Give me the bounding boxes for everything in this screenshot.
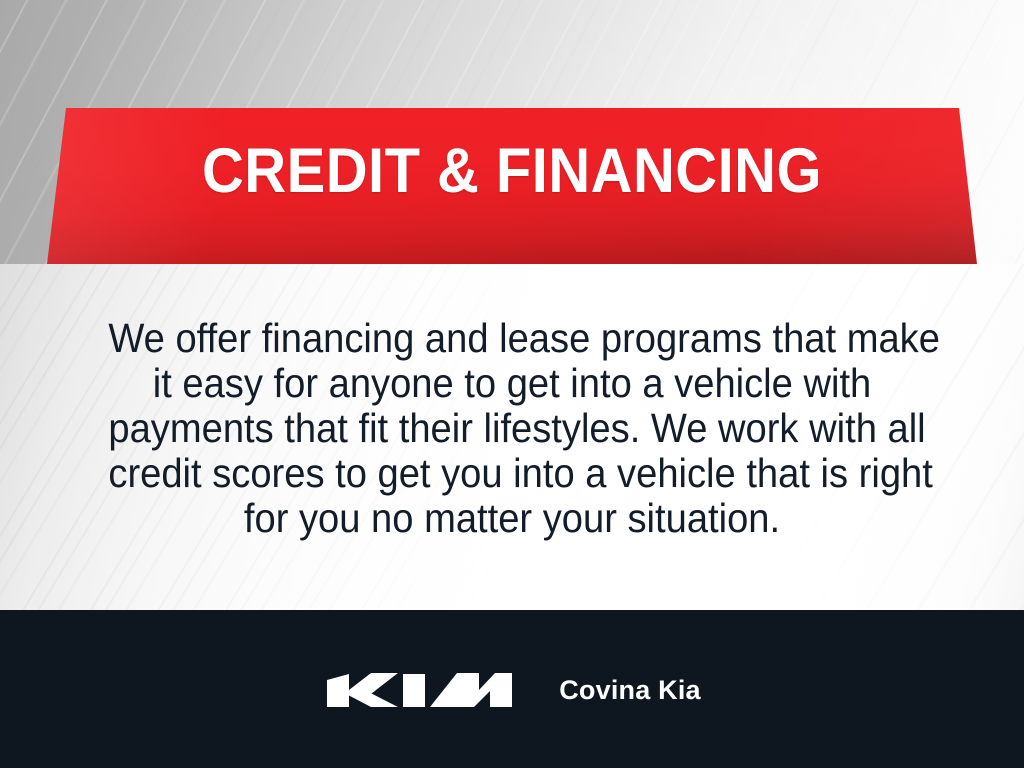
slide-canvas: CREDIT & FINANCING We offer financing an… (0, 0, 1024, 768)
header-banner: CREDIT & FINANCING (0, 106, 1024, 266)
footer-bar: Covina Kia (0, 610, 1024, 768)
footer-content: Covina Kia (0, 610, 1024, 768)
body-line: payments that fit their lifestyles. We w… (108, 406, 915, 451)
body-line: for you no matter your situation. (108, 496, 915, 541)
body-line: We offer financing and lease programs th… (108, 316, 915, 361)
body-paragraph: We offer financing and lease programs th… (108, 316, 915, 541)
body-line: credit scores to get you into a vehicle … (108, 451, 915, 496)
body-line: it easy for anyone to get into a vehicle… (108, 361, 915, 406)
dealer-name: Covina Kia (559, 675, 701, 706)
kia-logo-icon (323, 665, 515, 715)
page-title: CREDIT & FINANCING (41, 134, 983, 208)
body-panel: We offer financing and lease programs th… (0, 264, 1024, 610)
